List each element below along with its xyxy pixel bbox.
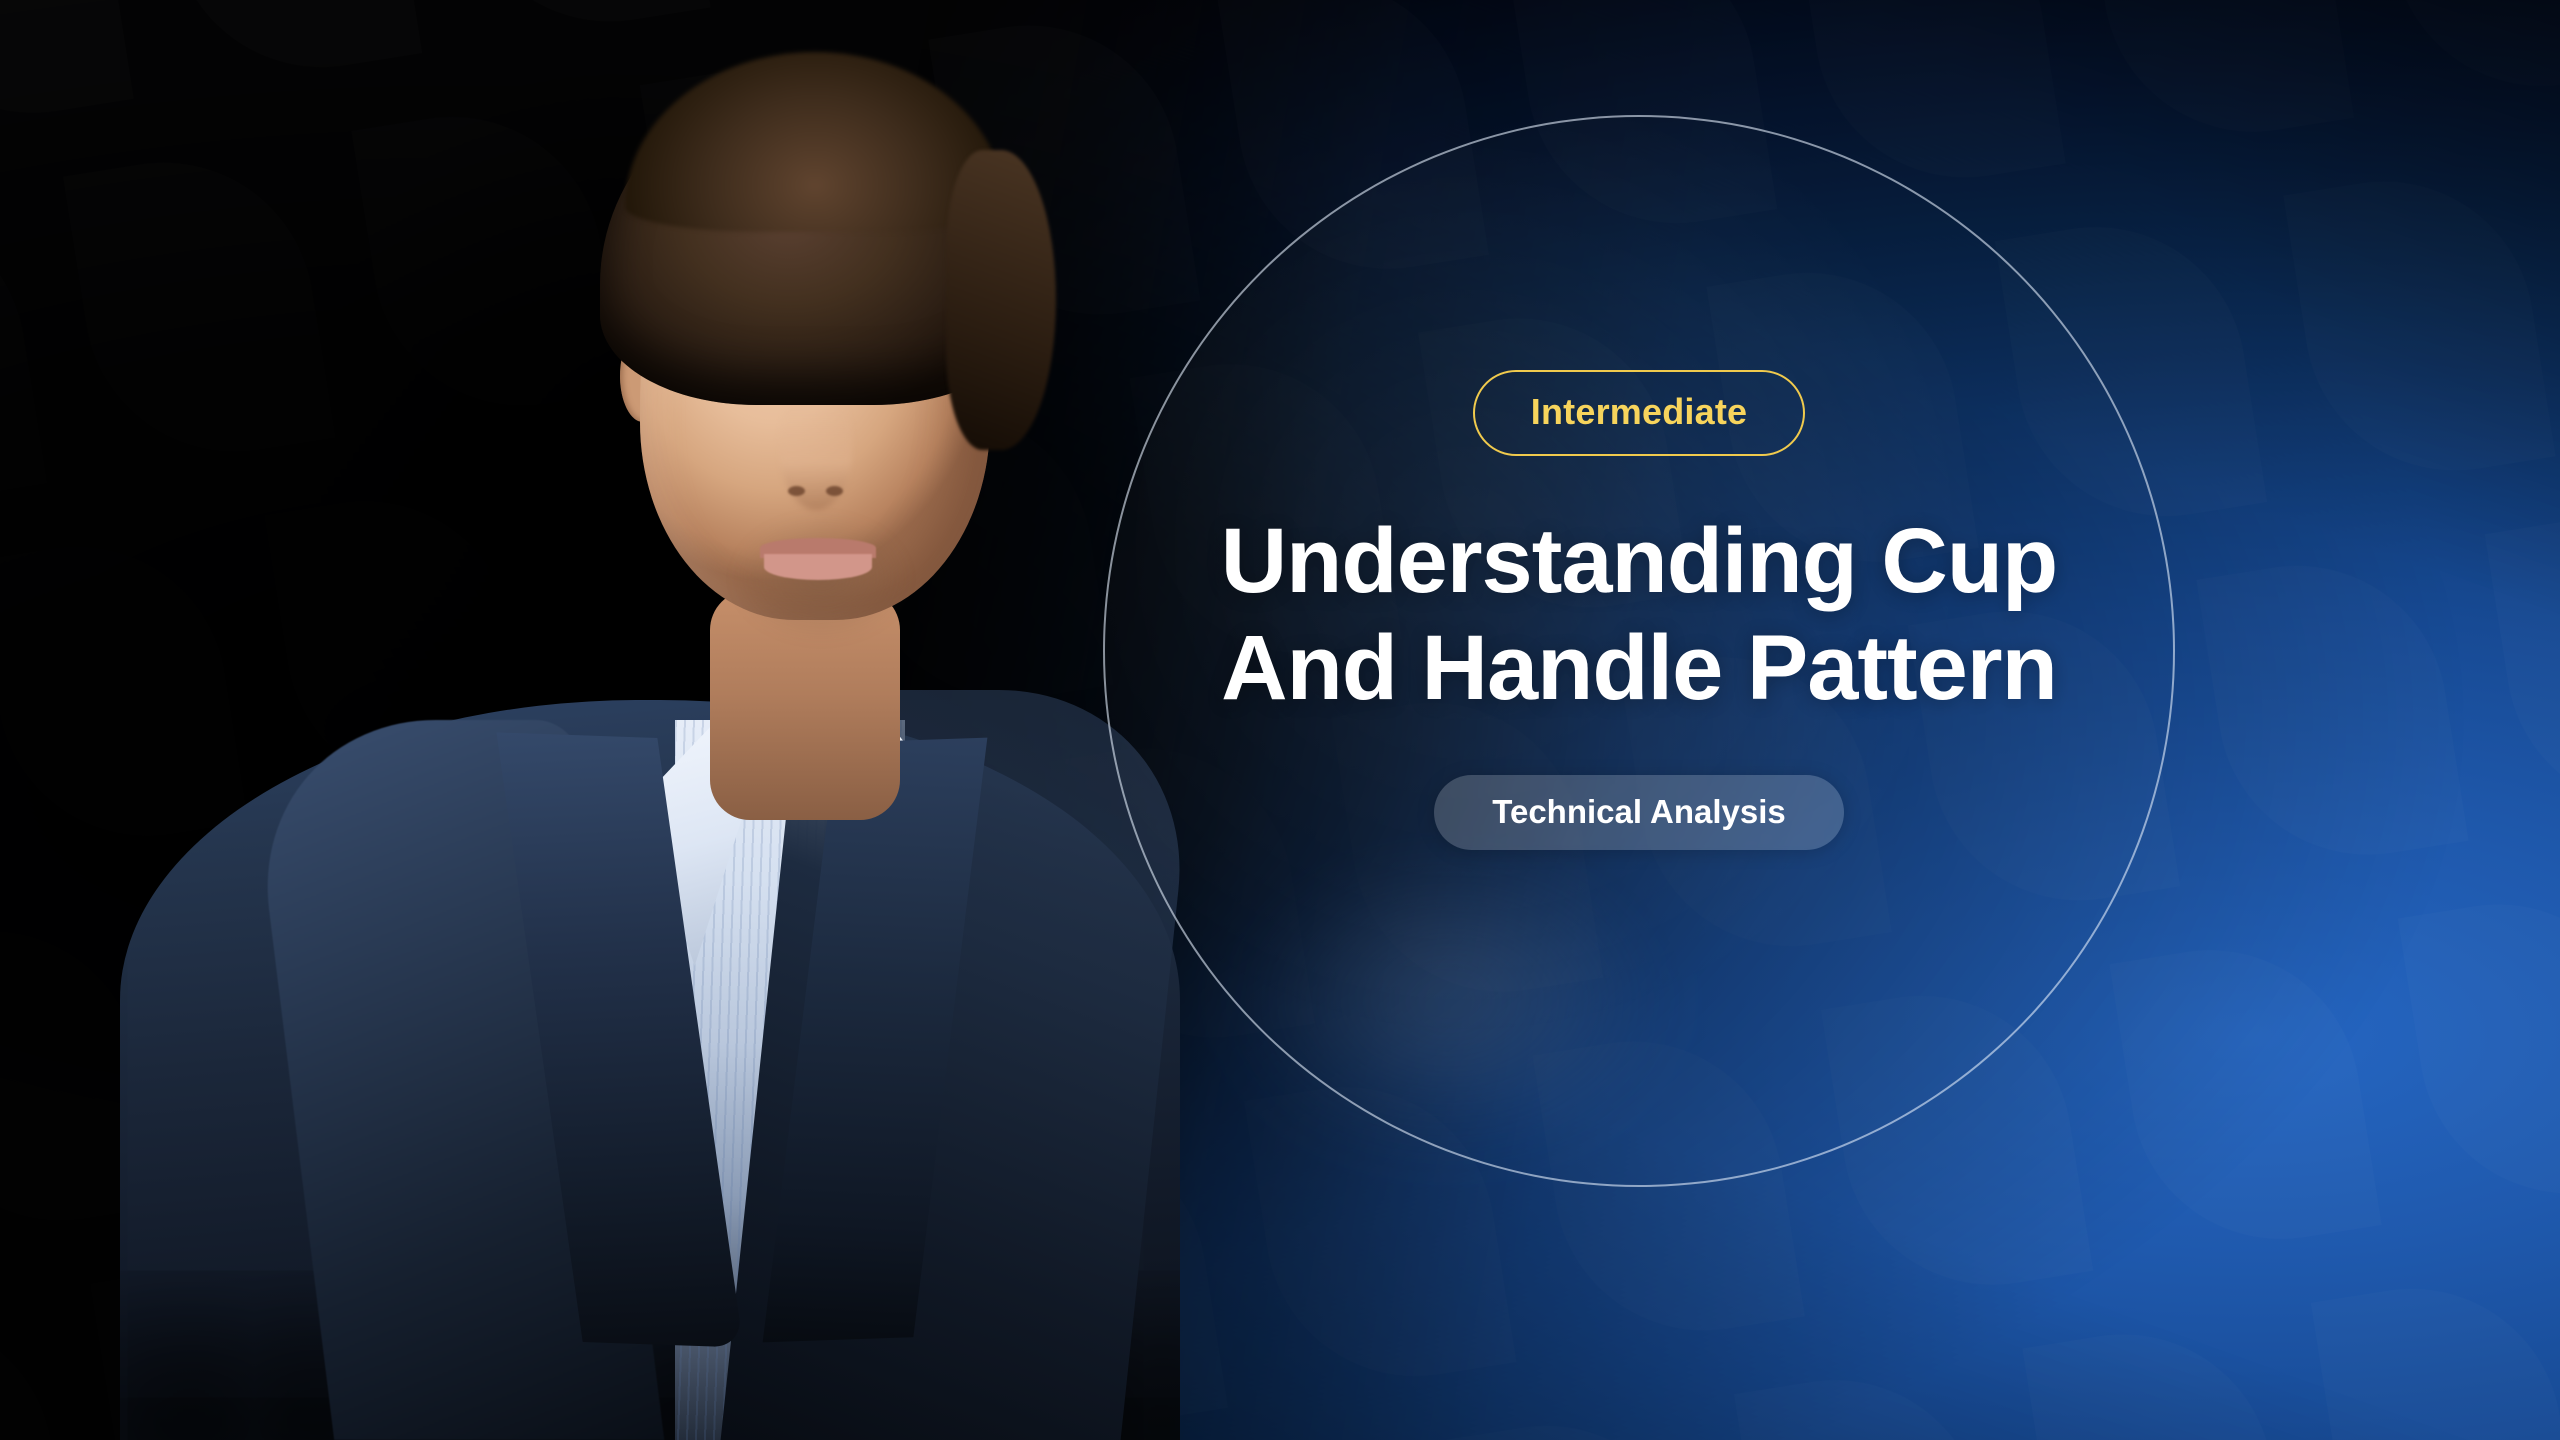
portrait-photo	[120, 0, 1200, 1440]
page-title-line-1: Understanding Cup	[1221, 508, 2058, 615]
category-chip[interactable]: Technical Analysis	[1434, 775, 1843, 850]
lower-lip	[764, 554, 872, 580]
page-title-line-2: And Handle Pattern	[1221, 615, 2058, 722]
hair-side	[946, 150, 1056, 450]
card-content: Intermediate Understanding Cup And Handl…	[1103, 115, 2175, 1187]
difficulty-badge[interactable]: Intermediate	[1473, 370, 1805, 456]
nostril-right	[826, 486, 843, 496]
course-card-banner: Intermediate Understanding Cup And Handl…	[0, 0, 2560, 1440]
nostril-left	[788, 486, 805, 496]
page-title: Understanding Cup And Handle Pattern	[1221, 508, 2058, 721]
